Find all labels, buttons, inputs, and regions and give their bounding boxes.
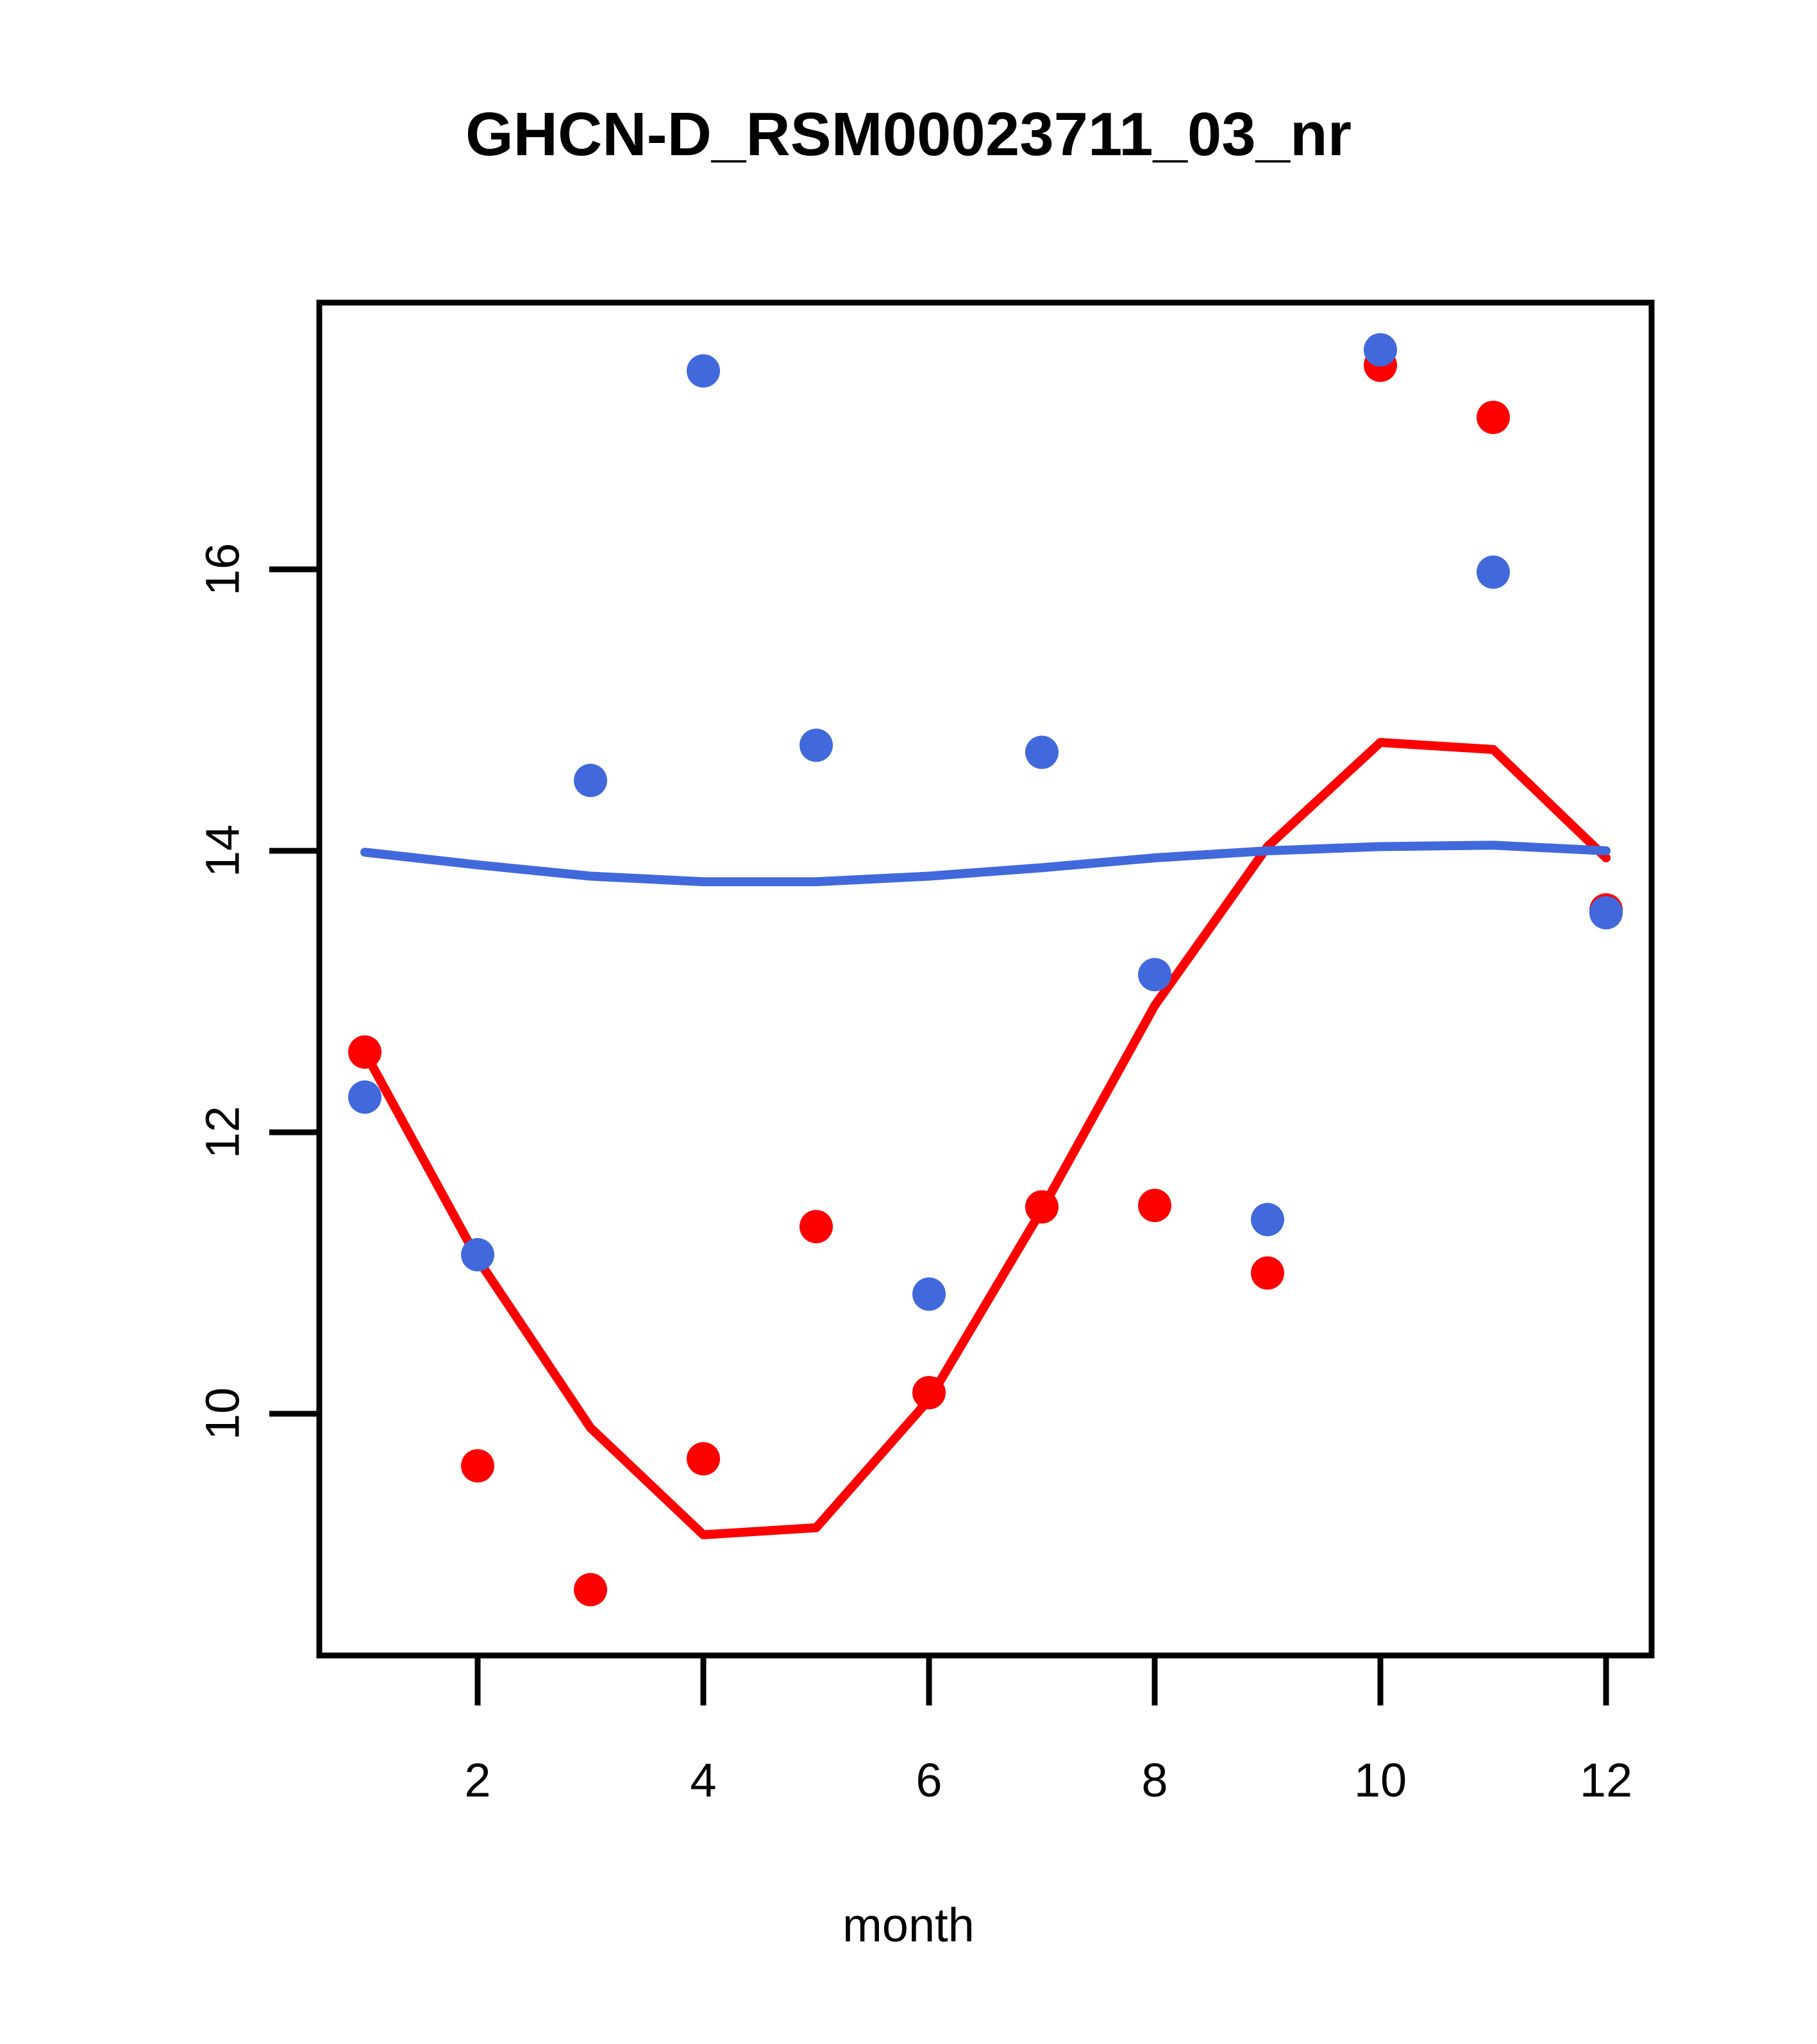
y-tick-label: 14 xyxy=(196,825,249,877)
blue-points-marker xyxy=(800,728,833,762)
x-tick-label: 12 xyxy=(1580,1754,1632,1807)
y-axis-ticks xyxy=(269,569,319,1414)
red-points-marker xyxy=(1477,401,1510,434)
x-axis-ticks xyxy=(478,1655,1606,1705)
red-points-marker xyxy=(461,1449,494,1482)
blue-points-marker xyxy=(687,355,720,388)
x-tick-label: 6 xyxy=(916,1754,942,1807)
blue-points-marker xyxy=(1589,896,1623,930)
y-tick-label: 16 xyxy=(196,543,249,596)
blue-points-marker xyxy=(1138,958,1171,991)
x-tick-label: 2 xyxy=(464,1754,490,1807)
x-tick-labels: 24681012 xyxy=(464,1754,1632,1807)
blue-points-marker xyxy=(574,764,607,797)
plot-frame xyxy=(319,303,1652,1655)
red-points-marker xyxy=(1025,1190,1059,1223)
blue-points-marker xyxy=(1477,555,1510,589)
chart-canvas: 10121416 24681012 xyxy=(0,0,1817,2044)
x-tick-label: 8 xyxy=(1141,1754,1168,1807)
x-tick-label: 4 xyxy=(690,1754,716,1807)
red-points-marker xyxy=(574,1573,607,1606)
red-points-marker xyxy=(1251,1257,1284,1290)
y-tick-label: 10 xyxy=(196,1387,249,1440)
series-lines xyxy=(365,742,1606,1535)
red-line xyxy=(365,742,1606,1535)
blue-line xyxy=(365,845,1606,882)
blue-points-marker xyxy=(348,1080,381,1114)
red-points-marker xyxy=(348,1035,381,1069)
x-axis-title: month xyxy=(0,1898,1817,1952)
red-points-marker xyxy=(1138,1189,1171,1222)
series-points xyxy=(348,333,1623,1607)
blue-points-marker xyxy=(1025,735,1059,769)
blue-points-marker xyxy=(1364,333,1397,367)
x-tick-label: 10 xyxy=(1354,1754,1407,1807)
y-tick-label: 12 xyxy=(196,1106,249,1159)
red-points-marker xyxy=(912,1376,946,1409)
red-points-marker xyxy=(800,1210,833,1243)
blue-points-marker xyxy=(461,1238,494,1271)
red-points-marker xyxy=(687,1442,720,1475)
plot-root: GHCN-D_RSM00023711_03_nr 10121416 246810… xyxy=(0,0,1817,2044)
y-tick-labels: 10121416 xyxy=(196,543,249,1440)
blue-points-marker xyxy=(912,1277,946,1311)
blue-points-marker xyxy=(1251,1203,1284,1236)
